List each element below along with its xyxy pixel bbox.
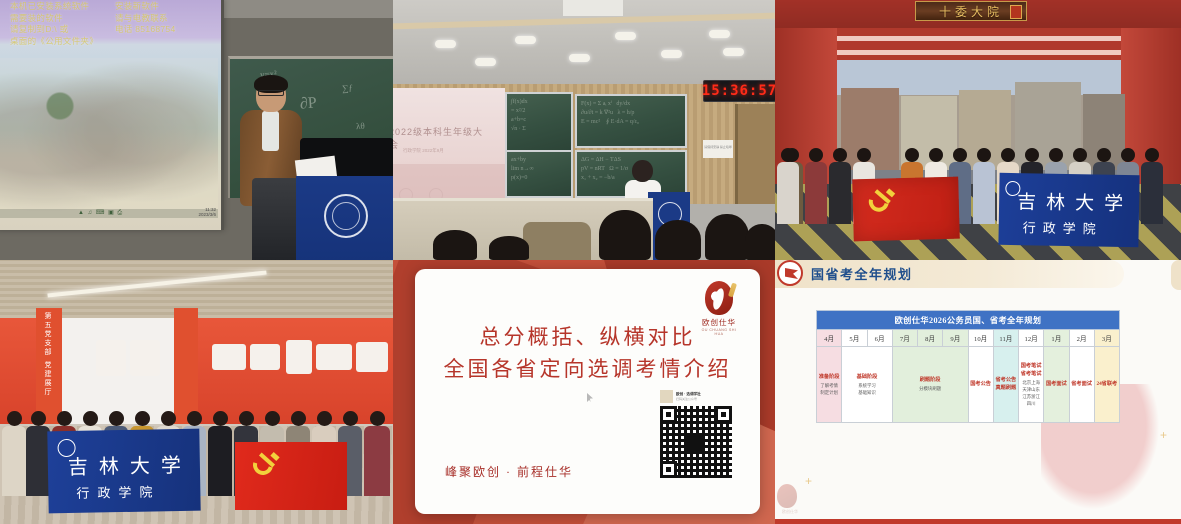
plan-cell: 24省联考 — [1094, 347, 1119, 423]
plan-cell: 准备阶段 了解考情 制定计划 — [817, 347, 842, 423]
chalk-writing: ∫f(x)dx= x²/2a+b=c√n · Σ — [511, 98, 567, 146]
exhibit-panel — [212, 344, 246, 370]
month-header: 5月 — [842, 330, 867, 347]
chalk-writing: ax+bylim n→∞p(x)=0 — [511, 156, 567, 192]
plan-cell-heading: 国考面试 — [1045, 381, 1067, 388]
banner-line-1: 吉林大学 — [1017, 187, 1133, 216]
qr-block: 欧创 · 选调学社 扫码关注公众号 — [660, 390, 732, 478]
head — [632, 160, 653, 182]
slide-card: 欧创仕华 OU CHUANG SHI HUA 总分概括、纵横对比 全国各省定向选… — [415, 269, 760, 514]
month-header: 6月 — [867, 330, 892, 347]
header-accent-shape — [1171, 260, 1181, 290]
plan-cell-line: 省考笔试 — [1020, 371, 1042, 378]
digital-wall-clock: 15:36:57 — [703, 80, 775, 102]
screen-subtitle: 行政学院 2022年9月 — [403, 148, 444, 154]
gate-sign: 十委大院 — [915, 1, 1027, 21]
audience-head — [745, 224, 775, 260]
month-header: 7月 — [892, 330, 917, 347]
plan-cell: 省考面试 — [1069, 347, 1094, 423]
plan-cell-heading: 省考面试 — [1071, 381, 1093, 388]
panel-presentation-slide: 欧创仕华 OU CHUANG SHI HUA 总分概括、纵横对比 全国各省定向选… — [393, 260, 775, 524]
qr-finder-icon — [660, 406, 677, 423]
ceiling-light — [723, 48, 744, 56]
plan-cell-heading: 准备阶段 — [818, 374, 840, 381]
ceiling-light — [709, 30, 730, 38]
qr-finder-icon — [715, 406, 732, 423]
annual-plan-table: 欧创仕华2026公务员国、省考全年规划 4月 5月 6月 7月 8月 9月 10… — [816, 310, 1120, 423]
month-header: 2月 — [1069, 330, 1094, 347]
audience-head — [655, 220, 701, 260]
clock-time: 15:36:57 — [702, 83, 775, 99]
account-avatar-icon — [660, 390, 673, 403]
ceiling-light — [515, 36, 536, 44]
panel-annual-plan-slide: 国省考全年规划 欧创仕华 + + 欧创仕华2026公务员国、省考全年规划 4月 … — [775, 260, 1181, 524]
hammer-sickle-icon — [866, 188, 901, 219]
plan-cell-heading: 国考公告 — [970, 381, 992, 388]
ceiling-light — [615, 32, 636, 40]
plan-cell-heading: 24省联考 — [1096, 381, 1118, 388]
plan-cell-line: 系统学习 — [843, 382, 891, 389]
audience-head — [489, 236, 529, 260]
ceiling-light — [435, 40, 456, 48]
notice-text: 请保持安静 禁止喧哗 — [703, 145, 733, 149]
mouse-cursor-icon — [587, 393, 593, 402]
exhibit-panel — [316, 344, 352, 370]
plan-cell-heading: 基础阶段 — [843, 374, 891, 381]
hammer-sickle-icon — [251, 452, 285, 482]
table-header-row: 4月 5月 6月 7月 8月 9月 10月 11月 12月 1月 2月 3月 — [817, 330, 1120, 347]
qr-code[interactable] — [660, 406, 732, 478]
table-title-row: 欧创仕华2026公务员国、省考全年规划 — [817, 311, 1120, 330]
university-banner: 吉林大学 行政学院 — [47, 429, 200, 514]
projector-notice-text: 本机已安装系统软件 需要装的软件 请复制到D:\ 或 桌面的《公用文件夹》 安装… — [10, 1, 220, 47]
chalk-writing: ∑ƒ — [342, 83, 354, 94]
red-flag-icon — [777, 260, 803, 286]
panel-lecture-hall: 2022级本科生年级大会 行政学院 2022年9月 ∫f(x)dx= x²/2a… — [393, 0, 775, 260]
month-header: 1月 — [1044, 330, 1069, 347]
gate-sign-text: 十委大院 — [939, 3, 1003, 20]
plan-table-wrapper: 欧创仕华2026公务员国、省考全年规划 4月 5月 6月 7月 8月 9月 10… — [816, 310, 1120, 423]
logo-mark-icon — [777, 484, 797, 508]
banner-line-2: 行政学院 — [1023, 217, 1103, 237]
plan-cell-line: 天津山东 — [1020, 386, 1042, 393]
chalk-writing: F(x) = Σ aᵢ xⁱ dy/dx∂u/∂t = k ∇²u λ = h/… — [581, 100, 681, 142]
exhibit-panel — [356, 342, 388, 372]
logo-mark-icon — [705, 281, 733, 315]
plan-cell-line: 分模块刷题 — [894, 385, 967, 392]
plan-cell-line: 江苏浙江 — [1020, 393, 1042, 400]
panel-classroom-lecture: ▲ ♫ ⌨ ▣ ⎙ 11:32 2023/3/6 本机已安装系统软件 需要装的软… — [0, 0, 393, 260]
university-banner: 吉林大学 行政学院 — [998, 173, 1139, 247]
plan-cell-line: 制定计划 — [818, 389, 840, 396]
chalkboard-right-top: F(x) = Σ aᵢ xⁱ dy/dx∂u/∂t = k ∇²u λ = h/… — [575, 94, 687, 148]
plan-cell-line: 基础知识 — [843, 389, 891, 396]
audience-row — [393, 188, 775, 260]
month-header: 3月 — [1094, 330, 1119, 347]
photo-collage: ▲ ♫ ⌨ ▣ ⎙ 11:32 2023/3/6 本机已安装系统软件 需要装的软… — [0, 0, 1181, 524]
plan-cell: 省考公告 真题刷题 — [993, 347, 1018, 423]
audience-head — [433, 230, 477, 260]
plan-cell: 国考面试 — [1044, 347, 1069, 423]
month-header: 12月 — [1019, 330, 1044, 347]
plan-cell-heading: 国考笔试 — [1020, 363, 1042, 370]
month-header: 4月 — [817, 330, 842, 347]
ceiling-light — [661, 50, 682, 58]
plan-cell-line: 真题刷题 — [995, 385, 1017, 392]
ceiling-light — [475, 58, 496, 66]
plus-decoration-icon: + — [805, 474, 812, 488]
podium-banner — [296, 176, 393, 260]
panel-indoor-group-photo: 第五党支部 党建展厅 — [0, 260, 393, 524]
chalkboard-left-top: ∫f(x)dx= x²/2a+b=c√n · Σ — [505, 92, 573, 152]
exhibit-panel — [130, 340, 160, 376]
watermark-text: 欧创仕华 — [775, 509, 809, 515]
slide-header-title: 国省考全年规划 — [811, 264, 913, 283]
plan-cell: 基础阶段 系统学习 基础知识 — [842, 347, 893, 423]
plan-cell-heading: 省考公告 — [995, 377, 1017, 384]
slide-bottom-bar — [775, 519, 1181, 524]
month-header: 10月 — [968, 330, 993, 347]
chalk-writing: λθ — [356, 121, 365, 132]
ceiling-light — [569, 54, 590, 62]
plan-cell: 刷题阶段 分模块刷题 — [892, 347, 968, 423]
plan-cell-line: 了解考情 — [818, 382, 840, 389]
slide-title-line-2: 全国各省定向选调考情介绍 — [415, 353, 760, 383]
palm-tree — [40, 82, 80, 122]
audience-head — [705, 214, 749, 260]
table-title: 欧创仕华2026公务员国、省考全年规划 — [817, 311, 1120, 330]
audience-head — [599, 210, 651, 260]
month-header: 9月 — [943, 330, 968, 347]
qr-center-logo-icon — [687, 433, 705, 451]
glasses — [258, 90, 284, 96]
slide-tagline: 峰聚欧创 · 前程仕华 — [445, 463, 573, 480]
plan-cell: 国考公告 — [968, 347, 993, 423]
plan-cell-heading: 刷题阶段 — [894, 377, 967, 384]
tray-icons: ▲ ♫ ⌨ ▣ ⎙ — [78, 209, 123, 217]
logo-spark-icon — [728, 283, 737, 298]
plan-cell-line: 北京上海 — [1020, 379, 1042, 386]
wall-notice: 请保持安静 禁止喧哗 — [703, 140, 733, 158]
plan-cell-line: 四川 — [1020, 400, 1042, 407]
qr-finder-icon — [660, 461, 677, 478]
panel-gate-group-photo: 十委大院 — [775, 0, 1181, 260]
desktop-wallpaper — [0, 58, 218, 218]
plan-cell: 国考笔试 省考笔试 北京上海 天津山东 江苏浙江 四川 — [1019, 347, 1044, 423]
qr-account-header: 欧创 · 选调学社 扫码关注公众号 — [660, 390, 732, 403]
exhibit-panel — [96, 340, 126, 376]
university-seal-icon — [324, 194, 368, 238]
chalk-writing: ∂P — [299, 94, 317, 113]
skylight — [563, 0, 623, 16]
gate-plaque-icon — [1010, 5, 1022, 19]
arch-bar — [799, 36, 1156, 41]
banner-line-2: 行政学院 — [76, 481, 160, 501]
watermark-logo: 欧创仕华 — [775, 484, 809, 518]
qr-caption: 扫码关注公众号 — [676, 397, 701, 401]
slide-title-line-1: 总分概括、纵横对比 — [415, 321, 760, 351]
cpc-party-flag — [235, 442, 347, 510]
exhibit-panel — [286, 340, 312, 374]
plus-decoration-icon: + — [1160, 428, 1167, 442]
banner-line-1: 吉林大学 — [68, 449, 192, 480]
month-header: 8月 — [918, 330, 943, 347]
shirt — [262, 111, 279, 151]
arch-bar — [799, 50, 1156, 55]
cpc-party-flag — [852, 177, 960, 242]
table-content-row: 准备阶段 了解考情 制定计划 基础阶段 系统学习 基础知识 刷题阶段 分模块刷题 — [817, 347, 1120, 423]
taskbar-clock: 11:32 2023/3/6 — [198, 207, 216, 217]
exhibit-panel — [250, 344, 280, 370]
month-header: 11月 — [993, 330, 1018, 347]
